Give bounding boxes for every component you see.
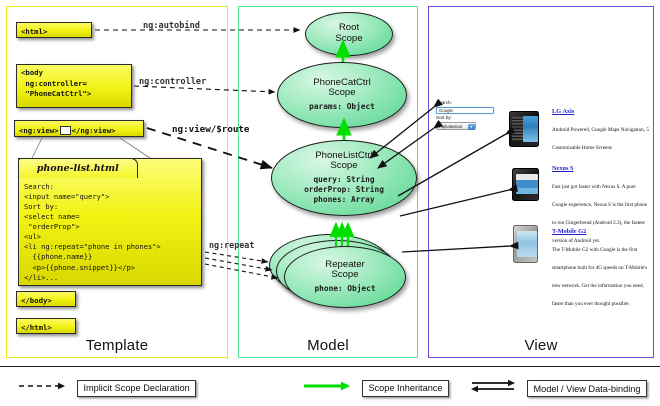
scope-phonecatctrl-members: params: Object bbox=[309, 102, 375, 112]
ngview-placeholder-icon bbox=[60, 126, 71, 135]
scope-phonelistctrl: PhoneListCtrlScope query: String orderPr… bbox=[271, 140, 417, 216]
phone-link-1[interactable]: LG Axis bbox=[552, 108, 650, 115]
phone-thumbnail-2 bbox=[512, 168, 539, 201]
phone-listing-3: T-Mobile G2 The T-Mobile G2 with Google … bbox=[552, 228, 650, 310]
legend-label-scope-inheritance: Scope Inheritance bbox=[362, 380, 448, 397]
search-input[interactable]: Google bbox=[436, 107, 494, 114]
code-html-open-tag: <html> bbox=[16, 22, 92, 38]
dashed-arrow-icon bbox=[18, 379, 66, 397]
legend: Implicit Scope Declaration Scope Inherit… bbox=[0, 366, 660, 406]
connector-label-view-route: ng:view/$route bbox=[172, 124, 249, 135]
code-body-close-tag: </body> bbox=[16, 291, 76, 307]
sort-select[interactable]: Alphabetical ▾ bbox=[436, 122, 476, 130]
diagram-canvas: Template Model View <html> <body ng:cont… bbox=[0, 0, 660, 405]
note-code-body: Search: <input name="query"> Sort by: <s… bbox=[19, 179, 201, 286]
connector-label-controller: ng:controller bbox=[139, 77, 206, 87]
phone-link-2[interactable]: Nexus S bbox=[552, 165, 650, 172]
green-arrow-icon bbox=[303, 379, 351, 397]
sort-select-value: Alphabetical bbox=[439, 124, 462, 129]
phone-link-3[interactable]: T-Mobile G2 bbox=[552, 228, 650, 235]
phone-listing-1: LG Axis Android Powered, Google Maps Nav… bbox=[552, 108, 650, 154]
panel-view-label: View bbox=[429, 337, 653, 354]
legend-item-scope-inheritance: Scope Inheritance bbox=[303, 379, 449, 395]
note-filename: phone-list.html bbox=[18, 158, 138, 178]
legend-label-data-binding: Model / View Data-binding bbox=[527, 380, 646, 397]
scope-repeater: RepeaterScope phone: Object bbox=[284, 246, 406, 308]
code-html-close-tag: </html> bbox=[16, 318, 76, 334]
legend-label-implicit-scope: Implicit Scope Declaration bbox=[77, 380, 195, 397]
legend-item-implicit-scope: Implicit Scope Declaration bbox=[18, 379, 196, 395]
scope-root-title: RootScope bbox=[335, 23, 362, 44]
scope-repeater-members: phone: Object bbox=[314, 284, 375, 294]
panel-model-label: Model bbox=[239, 337, 417, 354]
sort-label: Sort by: bbox=[436, 115, 498, 122]
ngview-open-tag: <ng:view> bbox=[19, 126, 59, 135]
phone-list-file-note: phone-list.html Search: <input name="que… bbox=[18, 158, 202, 286]
phone-thumbnail-3 bbox=[513, 225, 538, 263]
scope-phonelistctrl-members: query: String orderProp: String phones: … bbox=[304, 175, 384, 205]
legend-item-data-binding: Model / View Data-binding bbox=[470, 379, 647, 395]
search-label: Search: bbox=[436, 100, 498, 107]
scope-phonecatctrl: PhoneCatCtrlScope params: Object bbox=[277, 62, 407, 128]
scope-phonelistctrl-title: PhoneListCtrlScope bbox=[315, 151, 373, 172]
code-body-open-tag: <body ng:controller= "PhoneCatCtrl"> bbox=[16, 64, 132, 108]
scope-repeater-title: RepeaterScope bbox=[325, 260, 364, 281]
code-ngview-element: <ng:view></ng:view> bbox=[14, 120, 144, 137]
panel-template-label: Template bbox=[7, 337, 227, 354]
phone-thumbnail-1 bbox=[509, 111, 539, 147]
view-search-form: Search: Google Sort by: Alphabetical ▾ bbox=[436, 100, 498, 130]
scope-phonecatctrl-title: PhoneCatCtrlScope bbox=[313, 78, 371, 99]
phone-snippet-3: The T-Mobile G2 with Google is the first… bbox=[552, 247, 647, 307]
double-arrow-icon bbox=[470, 379, 516, 398]
ngview-close-tag: </ng:view> bbox=[72, 126, 116, 135]
chevron-down-icon: ▾ bbox=[468, 124, 475, 131]
scope-root: RootScope bbox=[305, 12, 393, 56]
phone-snippet-1: Android Powered, Google Maps Navigation,… bbox=[552, 127, 649, 151]
connector-label-repeat: ng:repeat bbox=[209, 240, 254, 250]
connector-label-autobind: ng:autobind bbox=[143, 21, 200, 31]
